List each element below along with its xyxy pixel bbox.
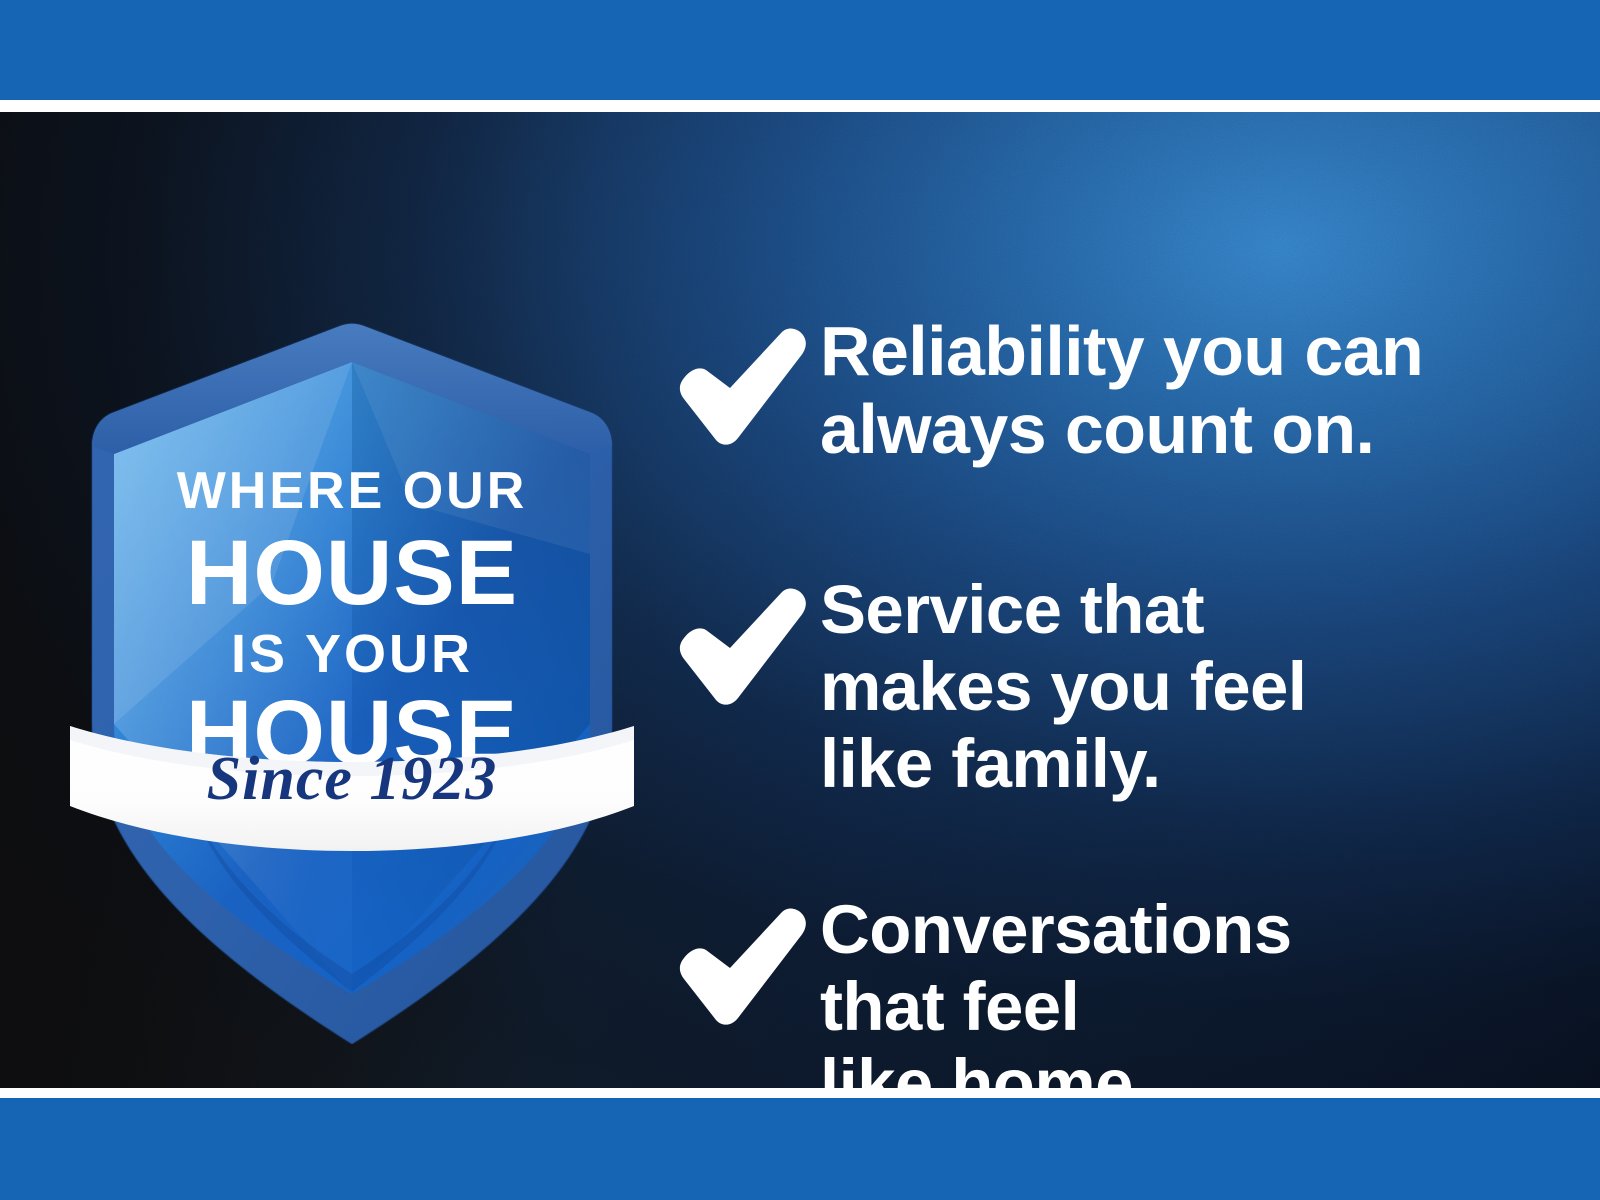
checkmark-icon (672, 906, 820, 1036)
benefits-checklist: Reliability you can always count on. Ser… (672, 212, 1512, 1082)
checkmark-icon (672, 586, 820, 716)
bottom-brand-bar (0, 1098, 1600, 1200)
promo-banner: WHERE OUR HOUSE IS YOUR HOUSE Since 1923 (0, 0, 1600, 1200)
checkmark-icon (672, 326, 820, 456)
checklist-item: Reliability you can always count on. (672, 312, 1512, 468)
checklist-item: Service that makes you feel like family. (672, 572, 1512, 803)
logo-line-2: HOUSE (186, 522, 518, 624)
banner-stage: WHERE OUR HOUSE IS YOUR HOUSE Since 1923 (0, 112, 1600, 1088)
logo-ribbon-text: Since 1923 (207, 745, 498, 813)
shield-badge-icon: WHERE OUR HOUSE IS YOUR HOUSE Since 1923 (52, 254, 652, 1044)
checklist-item-text: Reliability you can always count on. (820, 312, 1512, 468)
logo-line-1: WHERE OUR (177, 462, 528, 520)
checklist-item-text: Service that makes you feel like family. (820, 572, 1512, 803)
top-brand-bar (0, 0, 1600, 100)
company-shield-logo: WHERE OUR HOUSE IS YOUR HOUSE Since 1923 (52, 254, 652, 1044)
logo-line-3: IS YOUR (231, 624, 473, 684)
checklist-item: Conversations that feel like home. (672, 892, 1512, 1088)
checklist-item-text: Conversations that feel like home. (820, 892, 1512, 1088)
